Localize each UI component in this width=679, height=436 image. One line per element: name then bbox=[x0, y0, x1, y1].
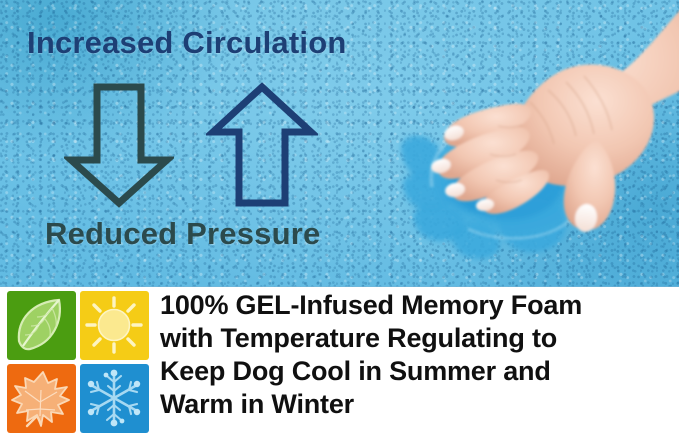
product-description: 100% GEL-Infused Memory Foam with Temper… bbox=[160, 289, 670, 421]
tile-autumn bbox=[7, 364, 76, 433]
up-arrow-icon bbox=[206, 82, 318, 208]
sun-icon bbox=[80, 291, 149, 360]
maple-leaf-icon bbox=[7, 364, 76, 433]
description-line-4: Warm in Winter bbox=[160, 388, 670, 421]
tile-summer bbox=[80, 291, 149, 360]
foam-photo-panel: Increased Circulation Reduced Pressure bbox=[0, 0, 679, 287]
hand-on-foam-illustration bbox=[380, 0, 679, 287]
snowflake-icon bbox=[80, 364, 149, 433]
product-feature-graphic: Increased Circulation Reduced Pressure bbox=[0, 0, 679, 436]
description-line-3: Keep Dog Cool in Summer and bbox=[160, 355, 670, 388]
season-icon-grid bbox=[7, 291, 149, 433]
headline-increased-circulation: Increased Circulation bbox=[27, 25, 346, 61]
headline-reduced-pressure: Reduced Pressure bbox=[45, 216, 320, 252]
down-arrow-icon bbox=[64, 82, 174, 208]
info-band: 100% GEL-Infused Memory Foam with Temper… bbox=[0, 287, 679, 436]
leaf-icon bbox=[7, 291, 76, 360]
description-line-1: 100% GEL-Infused Memory Foam bbox=[160, 289, 670, 322]
tile-winter bbox=[80, 364, 149, 433]
description-line-2: with Temperature Regulating to bbox=[160, 322, 670, 355]
tile-spring bbox=[7, 291, 76, 360]
